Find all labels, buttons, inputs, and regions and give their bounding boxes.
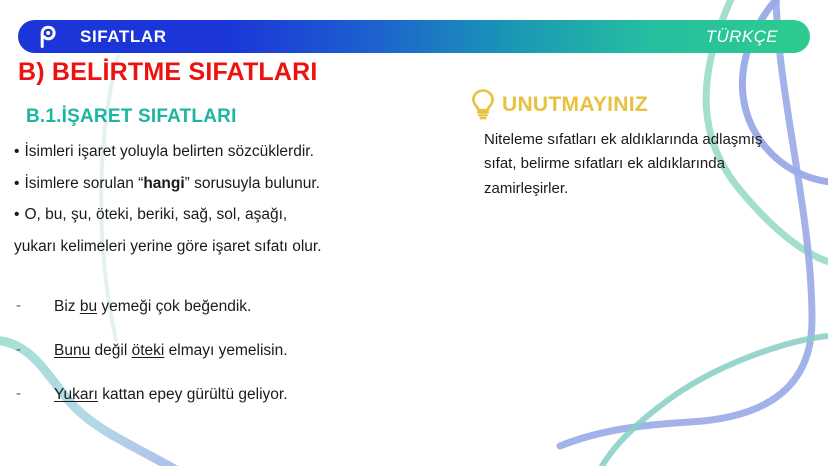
example-text: Biz bu yemeği çok beğendik. [54, 298, 251, 315]
note-header: UNUTMAYINIZ [470, 88, 770, 122]
lightbulb-icon [470, 88, 496, 122]
decor-curve-teal-bottom [598, 336, 828, 466]
header-bar: SIFATLAR TÜRKÇE [18, 20, 810, 53]
bullet-text: O, bu, şu, öteki, beriki, sağ, sol, aşağ… [24, 206, 287, 223]
dash-marker: - [16, 386, 54, 403]
decor-curve-periwinkle-long [560, 0, 812, 446]
example-post: değil [90, 342, 131, 359]
example-underlined: Yukarı [54, 386, 98, 403]
example-text: Yukarı kattan epey gürültü geliyor. [54, 386, 288, 403]
example-post: yemeği çok beğendik. [97, 298, 251, 315]
note-title: UNUTMAYINIZ [502, 93, 648, 117]
example-post-2: elmayı yemelisin. [164, 342, 287, 359]
page-title: B) BELİRTME SIFATLARI [18, 58, 318, 87]
slide-root: SIFATLAR TÜRKÇE B) BELİRTME SIFATLARI B.… [0, 0, 828, 466]
list-item: •O, bu, şu, öteki, beriki, sağ, sol, aşa… [14, 207, 444, 223]
dash-marker: - [16, 298, 54, 315]
list-item: - Yukarı kattan epey gürültü geliyor. [16, 386, 446, 403]
bullet-marker: • [14, 206, 19, 223]
list-item: - Biz bu yemeği çok beğendik. [16, 298, 446, 315]
bullet-text-after: ” sorusuyla bulunur. [185, 175, 320, 192]
bullet-text-bold: hangi [143, 175, 184, 192]
example-post: kattan epey gürültü geliyor. [98, 386, 288, 403]
example-list: - Biz bu yemeği çok beğendik. - Bunu değ… [16, 298, 446, 430]
bullet-text: İsimleri işaret yoluyla belirten sözcükl… [24, 143, 313, 160]
dash-marker: - [16, 342, 54, 359]
list-item: - Bunu değil öteki elmayı yemelisin. [16, 342, 446, 359]
example-underlined: bu [80, 298, 97, 315]
list-item: •İsimlere sorulan “hangi” sorusuyla bulu… [14, 176, 444, 192]
example-underlined: Bunu [54, 342, 90, 359]
example-text: Bunu değil öteki elmayı yemelisin. [54, 342, 288, 359]
logo-p-icon [34, 24, 60, 50]
example-underlined-2: öteki [132, 342, 165, 359]
header-subject: TÜRKÇE [706, 27, 778, 47]
bullet-list: •İsimleri işaret yoluyla belirten sözcük… [14, 144, 444, 270]
example-pre: Biz [54, 298, 80, 315]
bullet-marker: • [14, 143, 19, 160]
note-panel: UNUTMAYINIZ Niteleme sıfatları ek aldıkl… [470, 88, 770, 201]
bullet-text: İsimlere sorulan “ [24, 175, 143, 192]
bullet-continuation: yukarı kelimeleri yerine göre işaret sıf… [14, 239, 444, 255]
header-title: SIFATLAR [80, 27, 167, 47]
bullet-marker: • [14, 175, 19, 192]
section-subtitle: B.1.İŞARET SIFATLARI [26, 106, 237, 128]
note-body: Niteleme sıfatları ek aldıklarında adlaş… [484, 128, 770, 201]
list-item: •İsimleri işaret yoluyla belirten sözcük… [14, 144, 444, 160]
